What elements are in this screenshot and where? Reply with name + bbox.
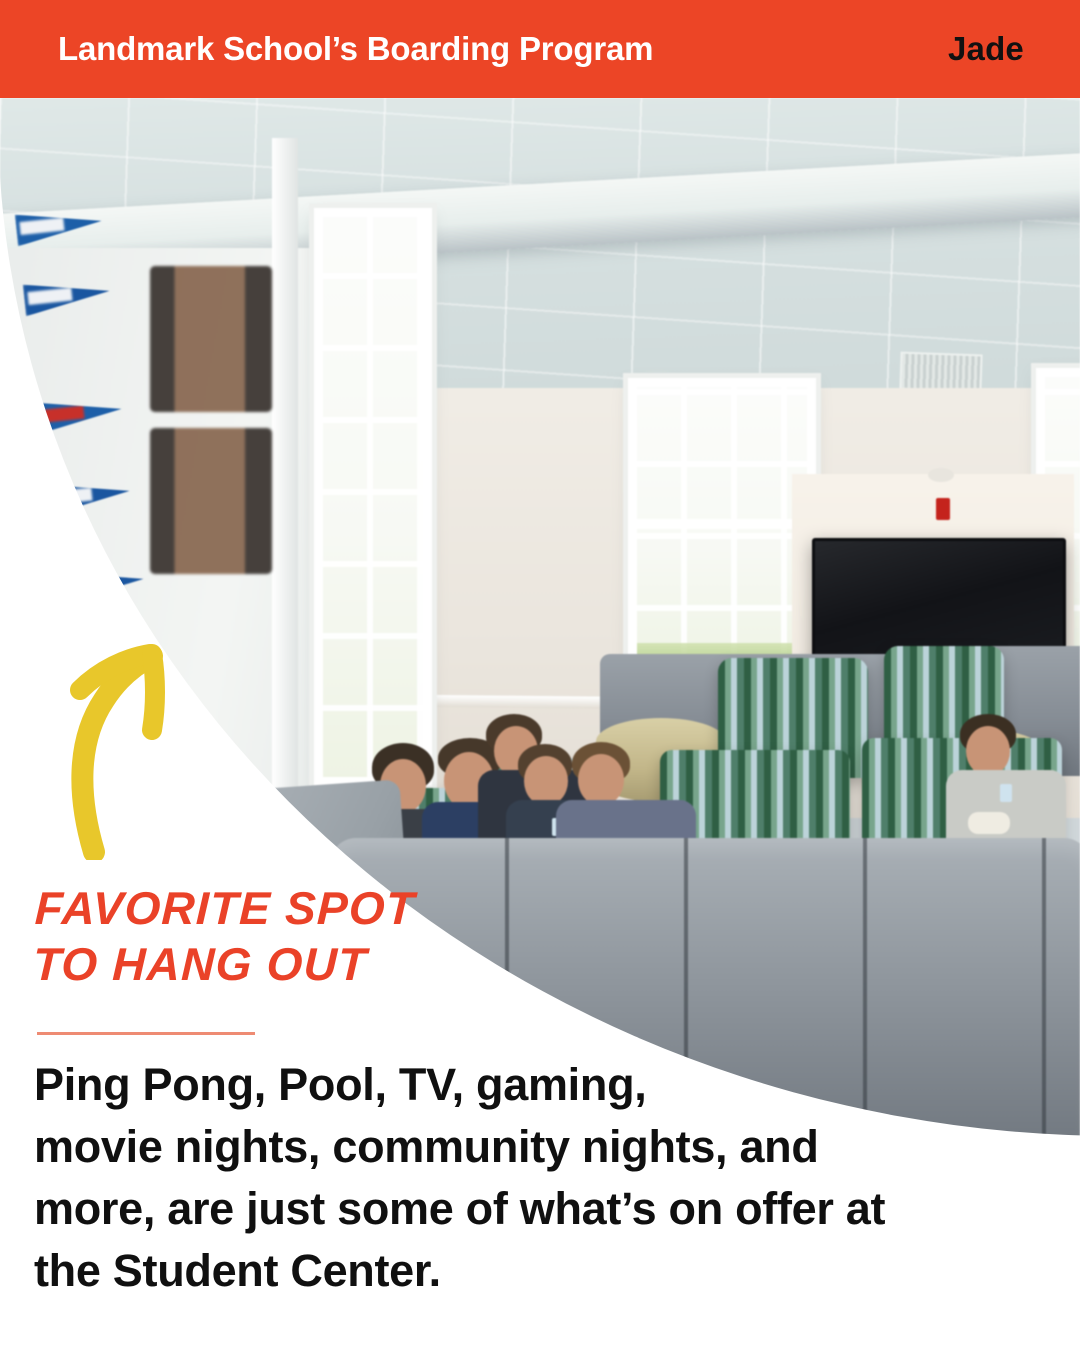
- student-center-photo: [0, 98, 1080, 1158]
- callout-headline: FAVORITE SPOT TO HANG OUT: [32, 880, 556, 992]
- page-title: Landmark School’s Boarding Program: [58, 30, 653, 68]
- body-line-1: Ping Pong, Pool, TV, gaming,: [34, 1054, 994, 1116]
- window: [628, 378, 816, 686]
- smoke-detector-icon: [928, 468, 954, 482]
- body-line-2: movie nights, community nights, and: [34, 1116, 994, 1178]
- body-line-3: more, are just some of what’s on offer a…: [34, 1178, 994, 1240]
- body-copy: Ping Pong, Pool, TV, gaming, movie night…: [34, 1054, 994, 1302]
- header-bar: Landmark School’s Boarding Program Jade: [0, 0, 1080, 98]
- curved-arrow-up-icon: [52, 630, 192, 860]
- photo-scene: [0, 98, 1080, 1158]
- window: [314, 208, 432, 786]
- headline-line-1: FAVORITE SPOT: [34, 880, 556, 936]
- student-name-badge: Jade: [948, 30, 1024, 68]
- fire-alarm-icon: [936, 498, 950, 520]
- headline-line-2: TO HANG OUT: [32, 936, 554, 992]
- poster-canvas: Landmark School’s Boarding Program Jade …: [0, 0, 1080, 1350]
- shoe: [968, 812, 1010, 834]
- door-jamb: [272, 138, 298, 838]
- ceiling-vent: [899, 352, 982, 393]
- headline-divider: [37, 1032, 255, 1035]
- wall-brochure-holder: [150, 266, 272, 412]
- wall-brochure-holder: [150, 428, 272, 574]
- body-line-4: the Student Center.: [34, 1240, 994, 1302]
